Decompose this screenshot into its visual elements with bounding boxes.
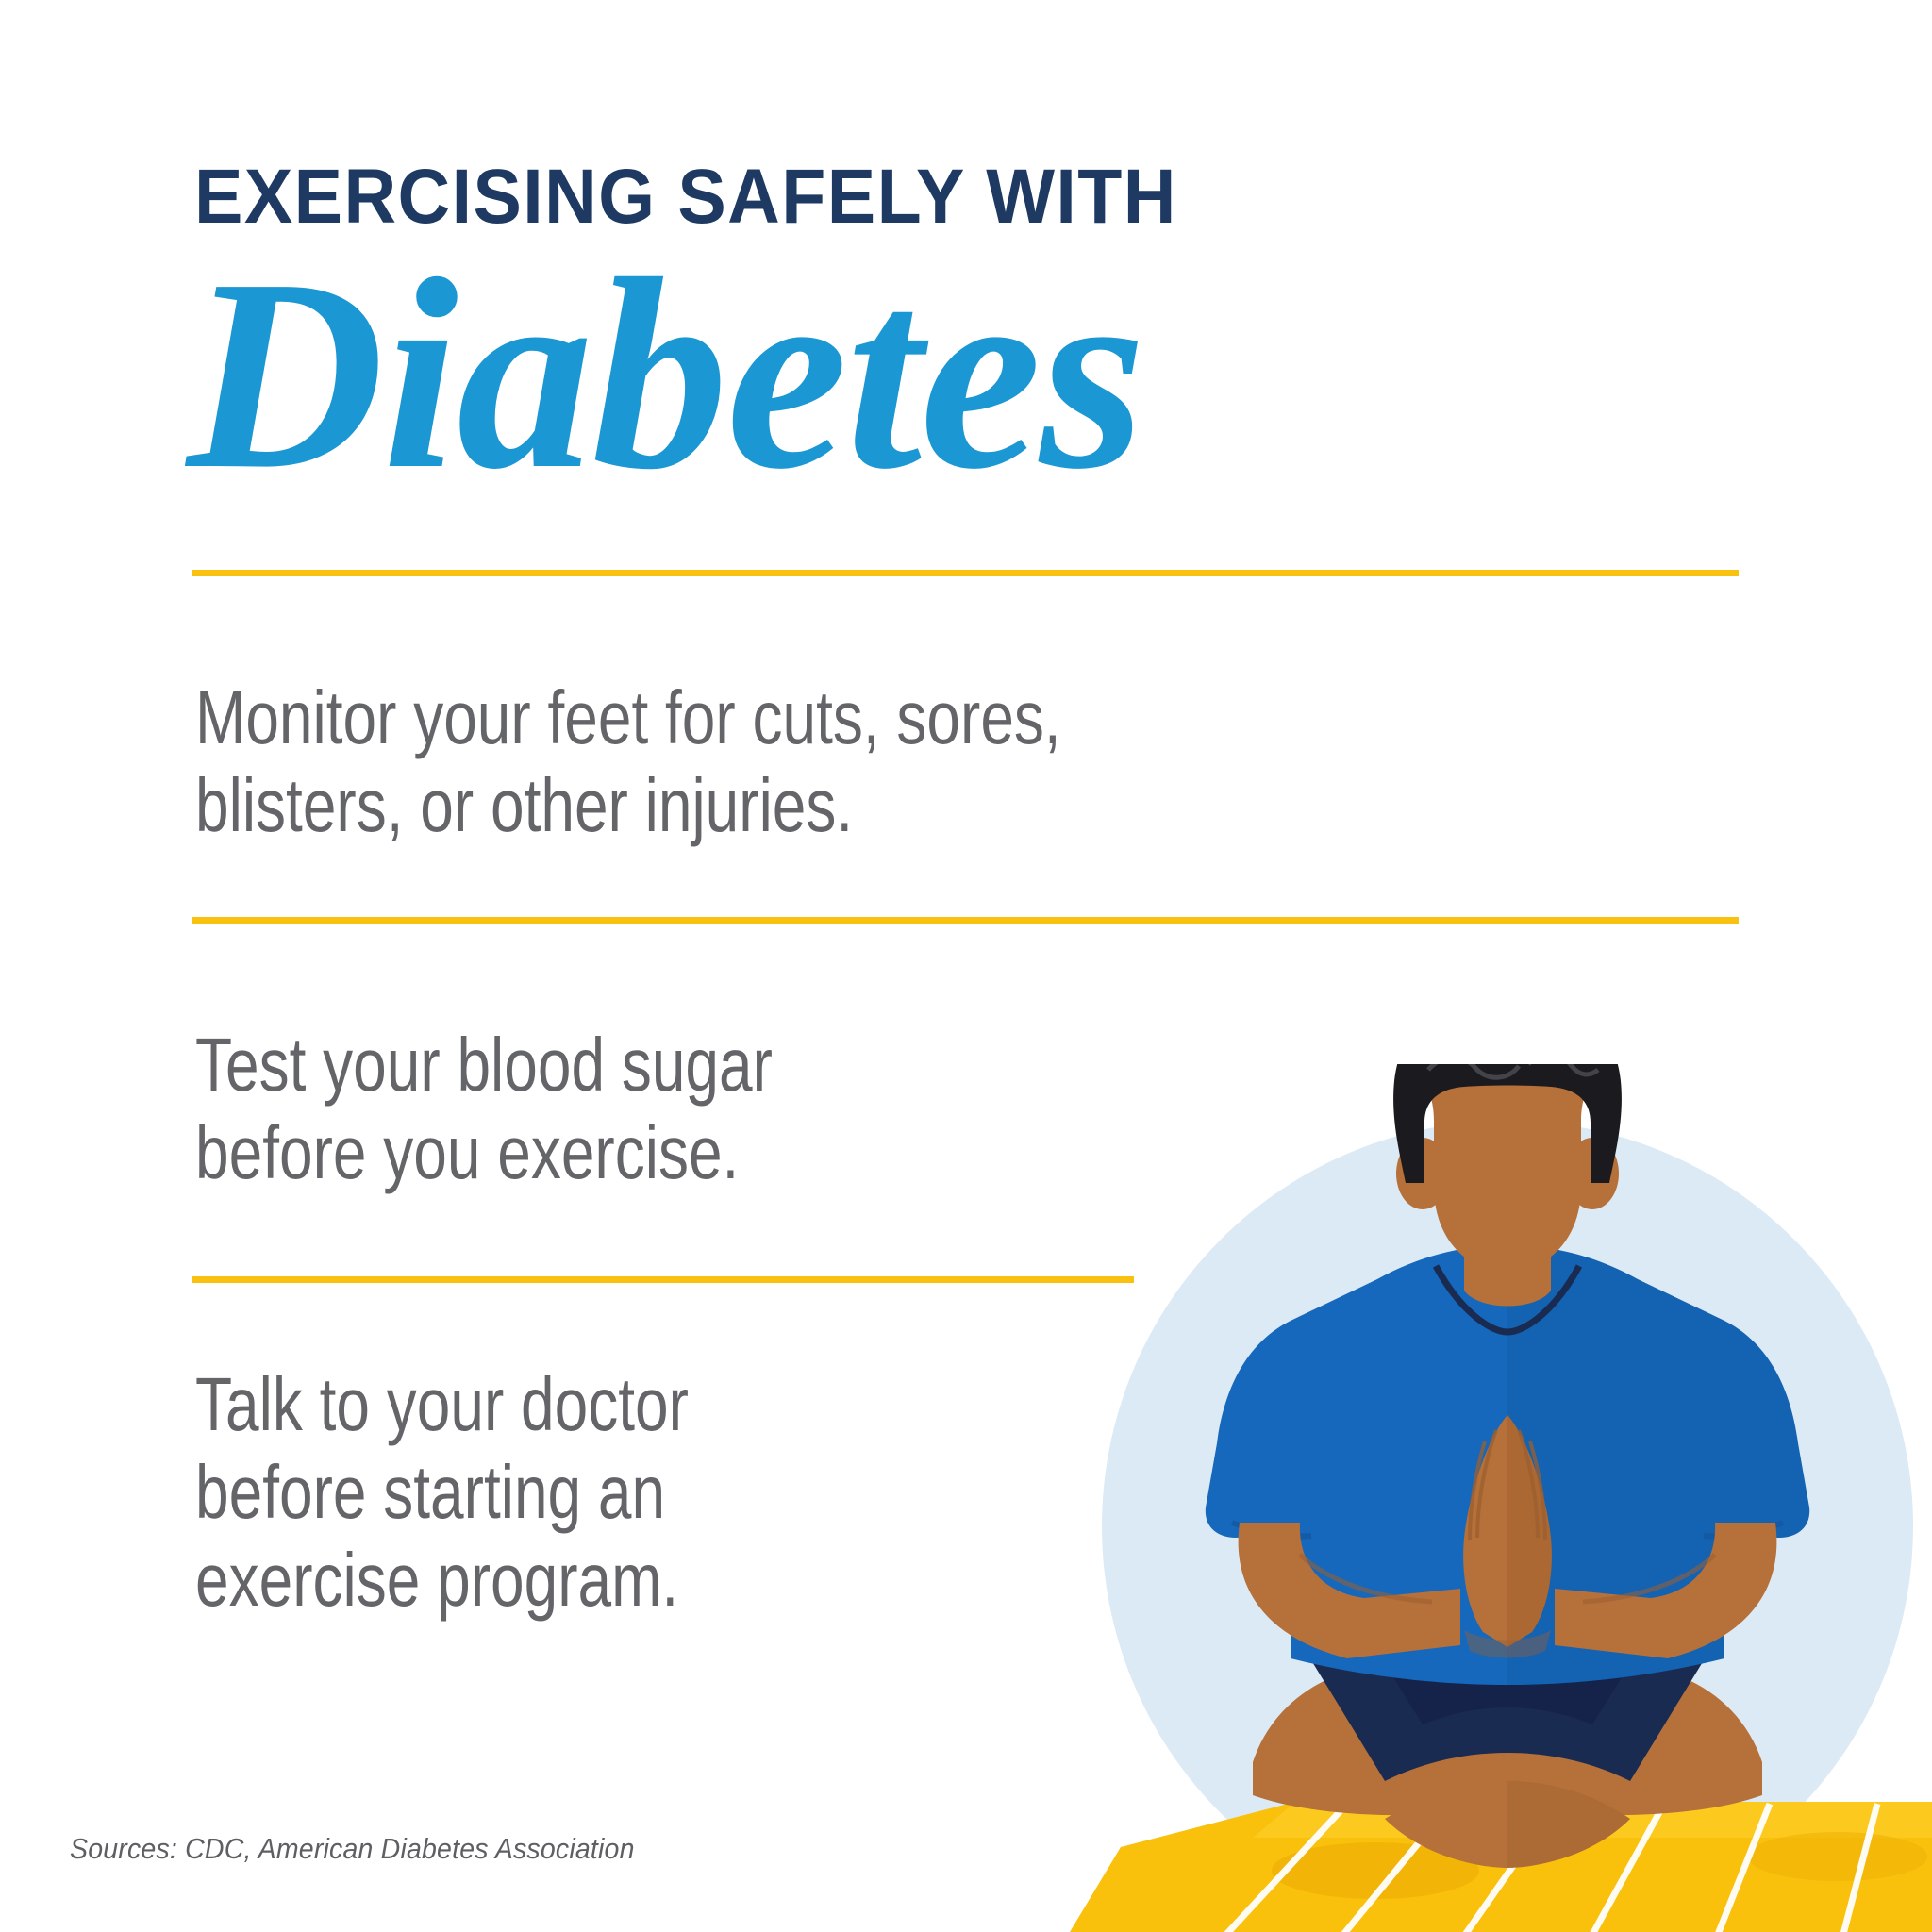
divider-rule-3 <box>192 1276 1134 1283</box>
divider-rule-2 <box>192 917 1739 924</box>
divider-rule-1 <box>192 570 1739 576</box>
illustration-person-meditating <box>1064 1064 1932 1932</box>
tip-item-monitor-feet: Monitor your feet for cuts, sores, blist… <box>195 675 1629 850</box>
infographic-poster: EXERCISING SAFELY WITH Diabetes Monitor … <box>0 0 1932 1932</box>
sources-credit: Sources: CDC, American Diabetes Associat… <box>70 1832 635 1866</box>
page-title-eyebrow: EXERCISING SAFELY WITH <box>194 158 1702 236</box>
page-title-brand-word: Diabetes <box>187 257 1798 491</box>
headline-block: EXERCISING SAFELY WITH Diabetes <box>194 158 1798 491</box>
